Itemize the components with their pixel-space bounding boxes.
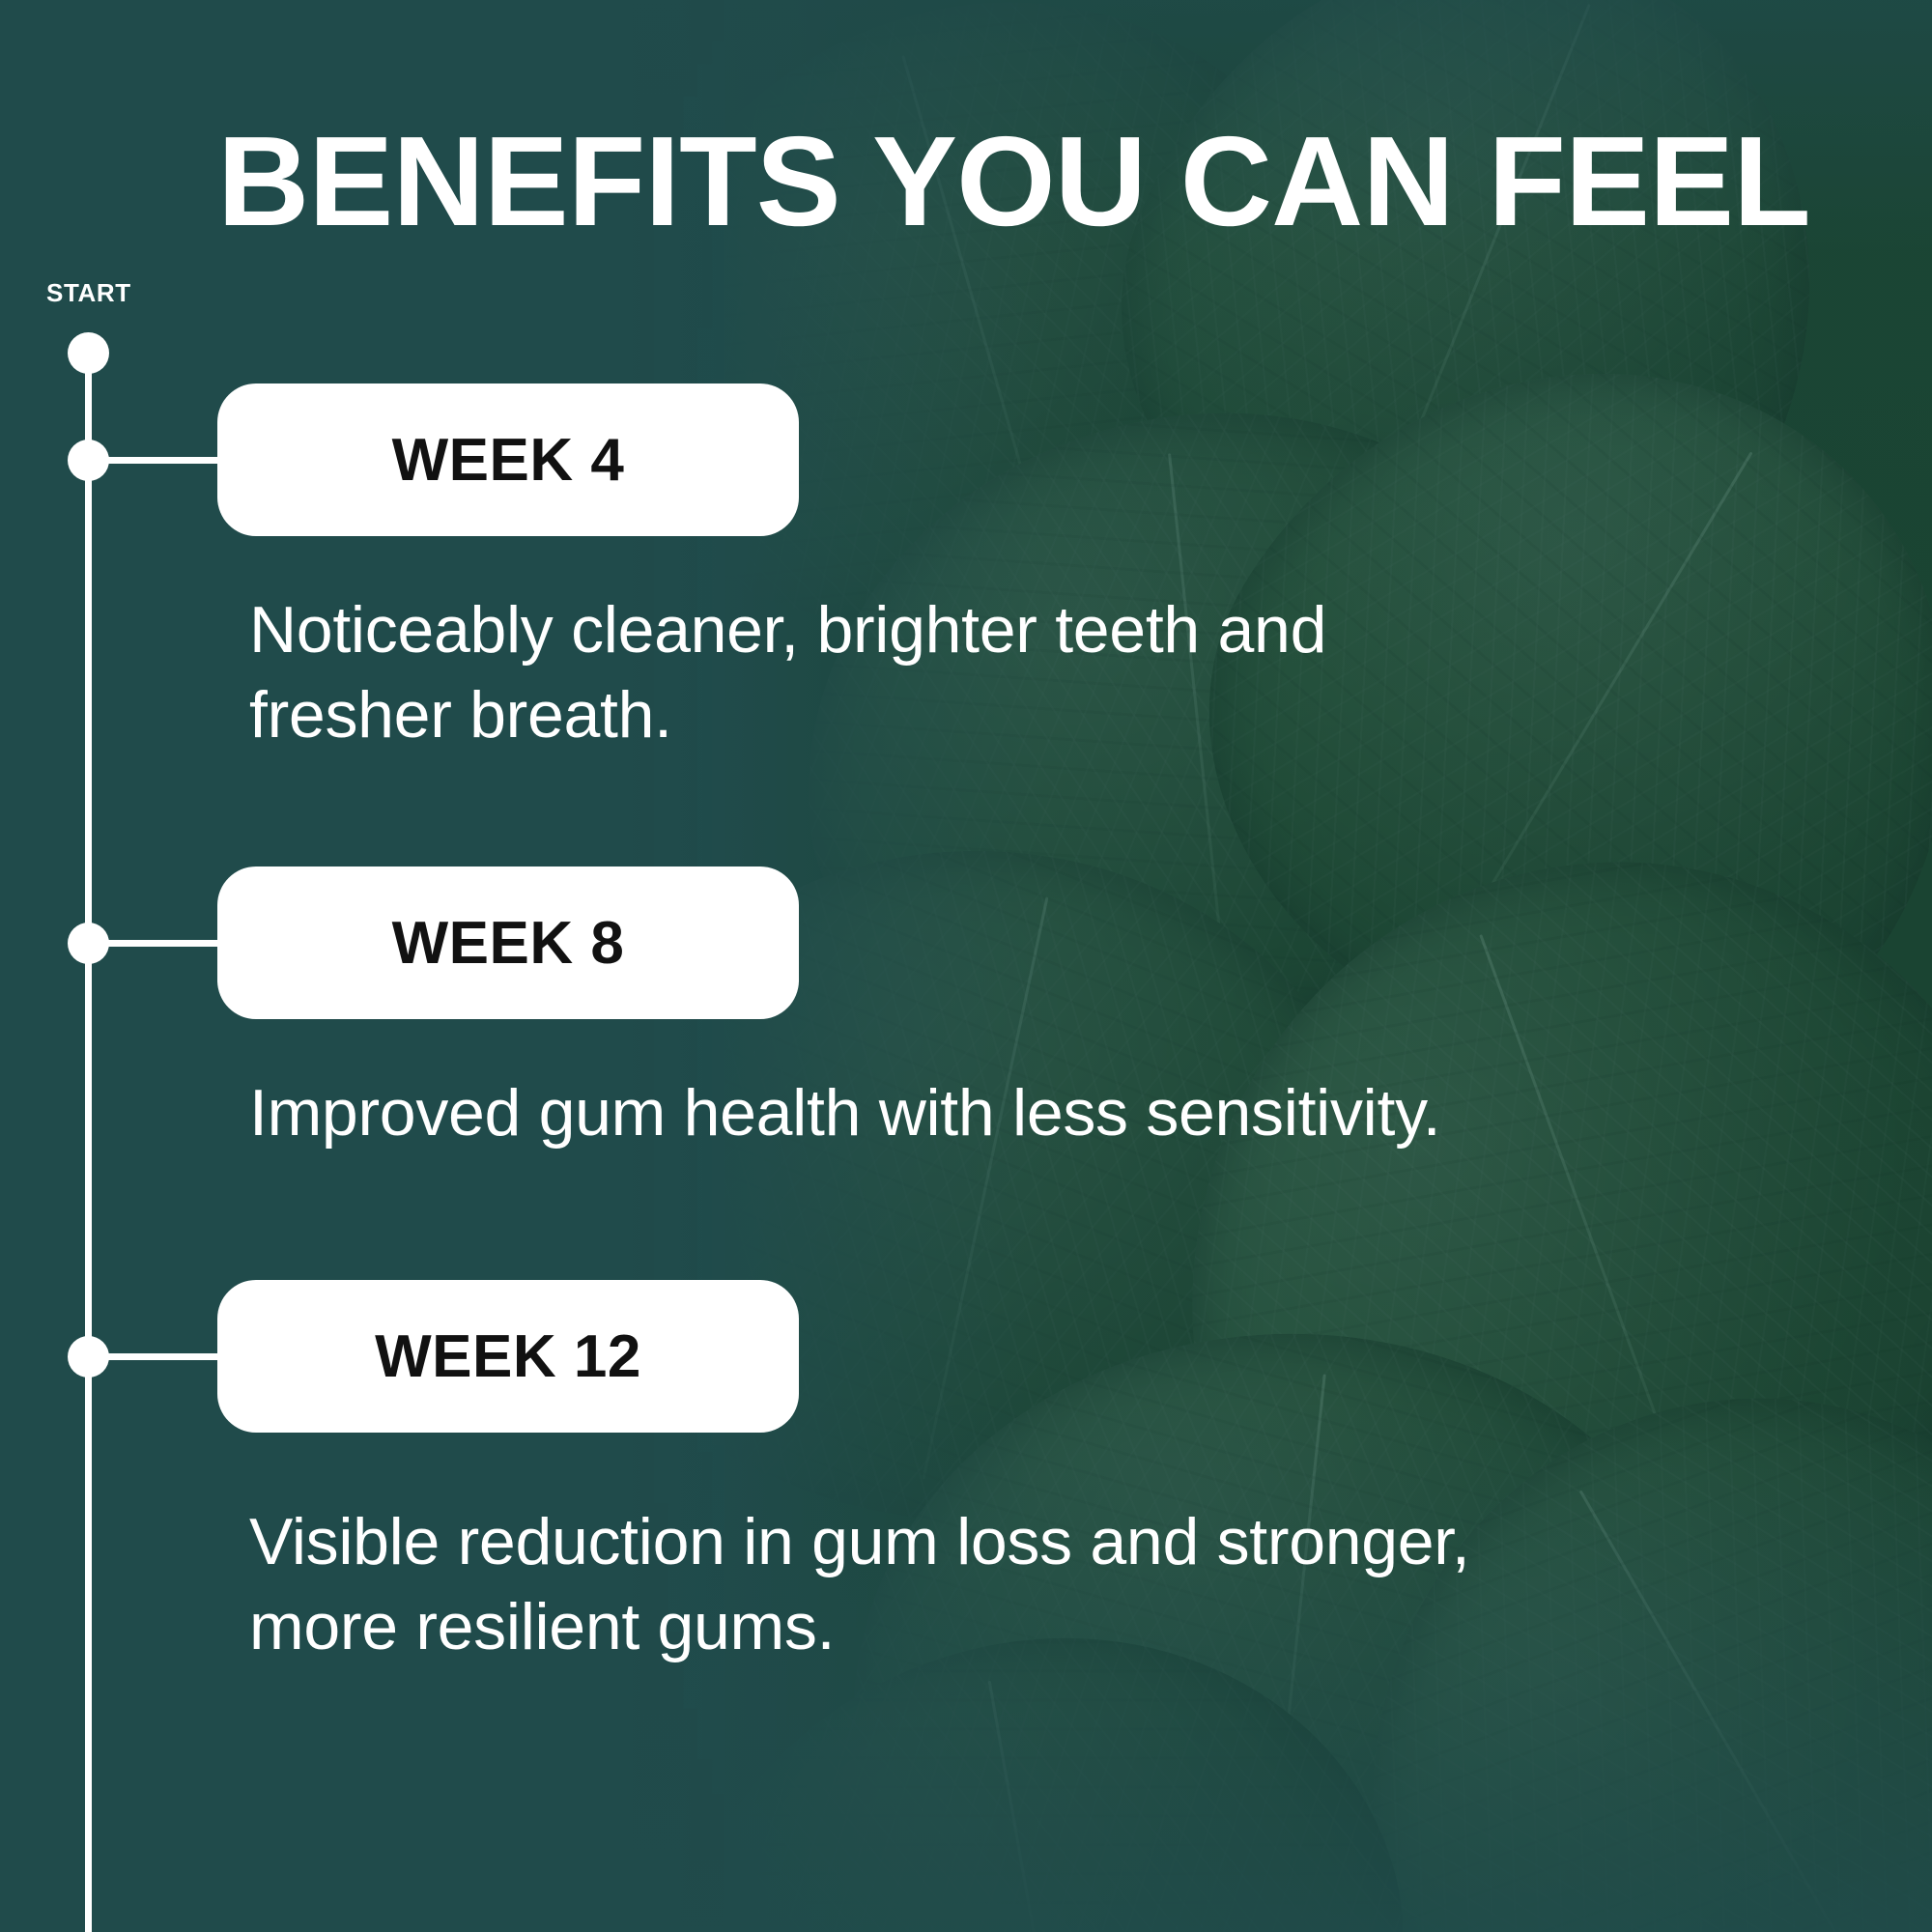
week-card-label: WEEK 12 (375, 1322, 641, 1391)
poster-content: BENEFITS YOU CAN FEEL START WEEK 4 Notic… (0, 0, 1932, 1932)
timeline-dot-start (68, 332, 109, 374)
week-description-week-12: Visible reduction in gum loss and strong… (249, 1499, 1544, 1670)
timeline-spine (85, 353, 92, 1932)
week-card-week-12[interactable]: WEEK 12 (217, 1280, 799, 1433)
week-card-week-8[interactable]: WEEK 8 (217, 867, 799, 1019)
week-card-label: WEEK 8 (392, 909, 625, 978)
timeline-connector-week-8 (100, 940, 220, 947)
timeline-connector-week-4 (100, 457, 220, 464)
page-title: BENEFITS YOU CAN FEEL (217, 118, 1802, 245)
timeline-start-label: START (46, 278, 131, 308)
week-card-week-4[interactable]: WEEK 4 (217, 384, 799, 536)
week-description-week-8: Improved gum health with less sensitivit… (249, 1070, 1891, 1155)
timeline-connector-week-12 (100, 1353, 220, 1360)
week-description-week-4: Noticeably cleaner, brighter teeth and f… (249, 587, 1524, 758)
week-card-label: WEEK 4 (392, 426, 625, 495)
